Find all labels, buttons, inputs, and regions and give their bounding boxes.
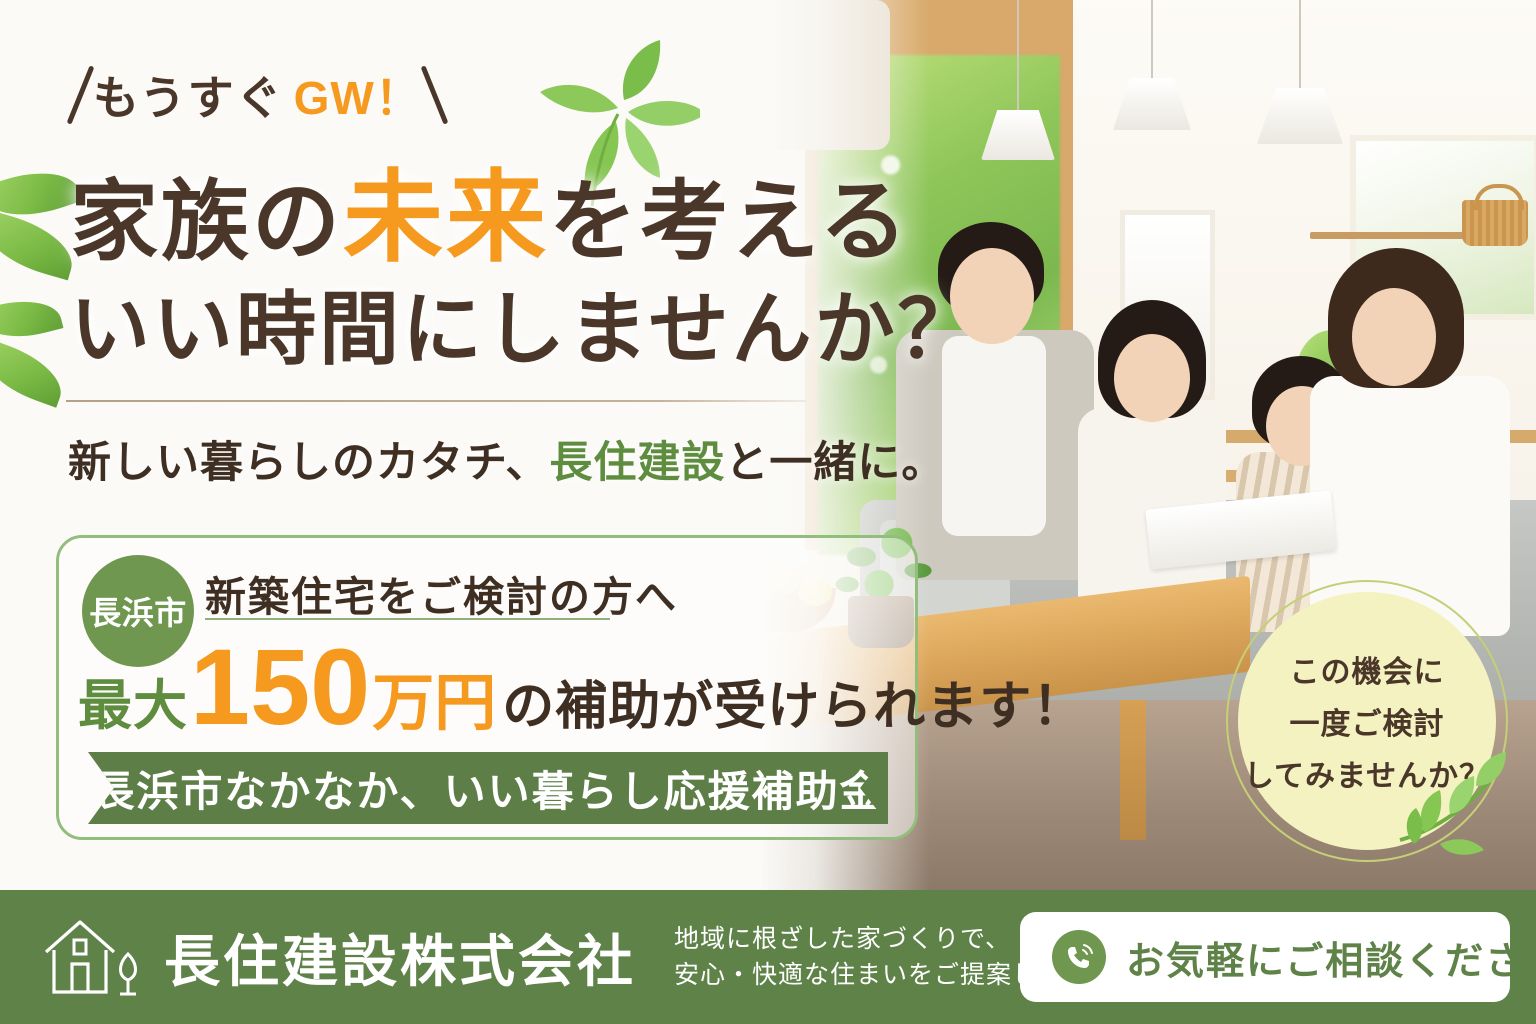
subtitle-part-b: と一緒に。 — [725, 439, 945, 487]
subtitle-part-a: 新しい暮らしのカタチ、 — [68, 439, 549, 487]
contact-cta-button[interactable]: お気軽にご相談ください — [1020, 912, 1510, 1002]
amount-suffix: の補助が受けられます！ — [502, 664, 1085, 739]
table-leg — [1120, 700, 1146, 840]
eyebrow-text: もうすぐ GW！ — [78, 62, 437, 128]
subtitle-text: 新しい暮らしのカタチ、長住建設と一緒に。 — [68, 428, 945, 490]
footer-bar: 長住建設株式会社 地域に根ざした家づくりで、 安心・快適な住まいをご提案します。… — [0, 890, 1536, 1024]
company-name: 長住建設株式会社 — [164, 917, 636, 998]
promo-banner: もうすぐ GW！ 家族の未来を考える いい時間にしませんか？ 新しい暮らしのカタ… — [0, 0, 1536, 1024]
slash-right-icon — [420, 65, 448, 124]
hero-content: もうすぐ GW！ 家族の未来を考える いい時間にしませんか？ 新しい暮らしのカタ… — [0, 0, 930, 890]
subtitle-brand: 長住建設 — [549, 439, 725, 487]
subsidy-heading: 新築住宅をご検討の方へ — [205, 563, 678, 623]
amount-number: 150 — [190, 636, 370, 739]
eyebrow-accent: GW！ — [294, 62, 422, 128]
wall-shelf — [1310, 232, 1475, 239]
house-tree-logo-icon — [40, 914, 148, 1000]
subsidy-heading-rule — [205, 618, 610, 620]
headline-accent: 未来 — [343, 162, 549, 274]
amount-prefix: 最大 — [78, 661, 188, 740]
slash-left-icon — [67, 65, 95, 124]
subsidy-ribbon: 長浜市なかなか、いい暮らし応援補助金 — [88, 752, 888, 824]
headline-divider — [66, 400, 806, 402]
subsidy-amount-row: 最大 150 万円 の補助が受けられます！ — [78, 636, 1085, 742]
basket — [1462, 200, 1528, 246]
headline-part-a: 家族の — [70, 172, 343, 271]
phone-icon — [1052, 930, 1106, 984]
headline-line-2: いい時間にしませんか？ — [70, 290, 981, 370]
badge-leaf-sprig-icon — [1380, 740, 1530, 860]
headline-line-1: 家族の未来を考える — [70, 168, 910, 268]
contact-cta-label: お気軽にご相談ください — [1126, 930, 1536, 985]
subsidy-ribbon-label: 長浜市なかなか、いい暮らし応援補助金 — [92, 758, 883, 819]
amount-unit: 万円 — [372, 652, 496, 742]
eyebrow-label: もうすぐ — [93, 62, 284, 128]
headline-part-b: を考える — [549, 172, 910, 271]
